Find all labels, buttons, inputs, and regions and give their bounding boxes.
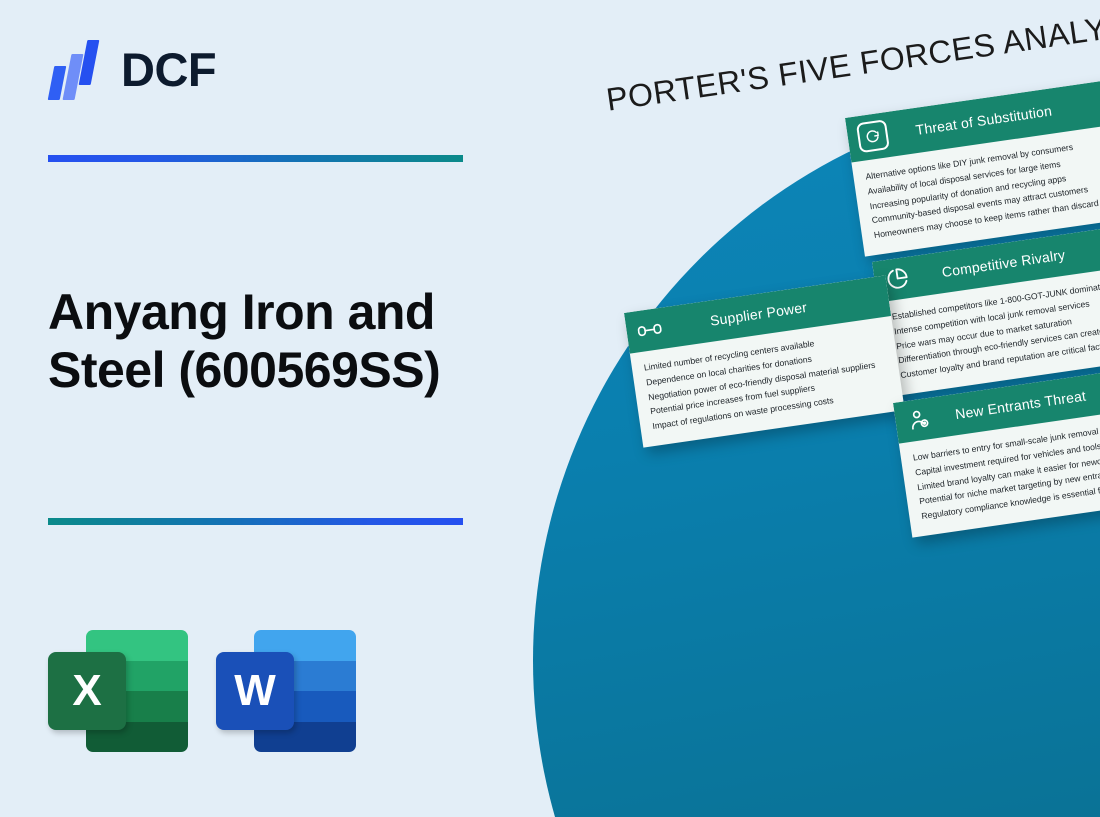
excel-badge-letter: X <box>48 652 126 730</box>
refresh-sync-icon <box>856 119 890 153</box>
page-title: Anyang Iron and Steel (600569SS) <box>48 283 498 399</box>
bar-chart-logo-icon <box>47 38 107 100</box>
divider-bottom <box>48 518 463 525</box>
person-badge-icon <box>904 405 933 434</box>
divider-top <box>48 155 463 162</box>
office-icon-group: X W <box>48 630 356 752</box>
poster-canvas: DCF Anyang Iron and Steel (600569SS) X W… <box>0 0 1100 817</box>
microsoft-excel-icon[interactable]: X <box>48 630 188 752</box>
logo-text: DCF <box>121 46 216 93</box>
left-column: DCF Anyang Iron and Steel (600569SS) X W <box>0 0 520 817</box>
dumbbell-icon <box>635 315 664 344</box>
microsoft-word-icon[interactable]: W <box>216 630 356 752</box>
dcf-logo[interactable]: DCF <box>47 38 216 100</box>
word-badge-letter: W <box>216 652 294 730</box>
